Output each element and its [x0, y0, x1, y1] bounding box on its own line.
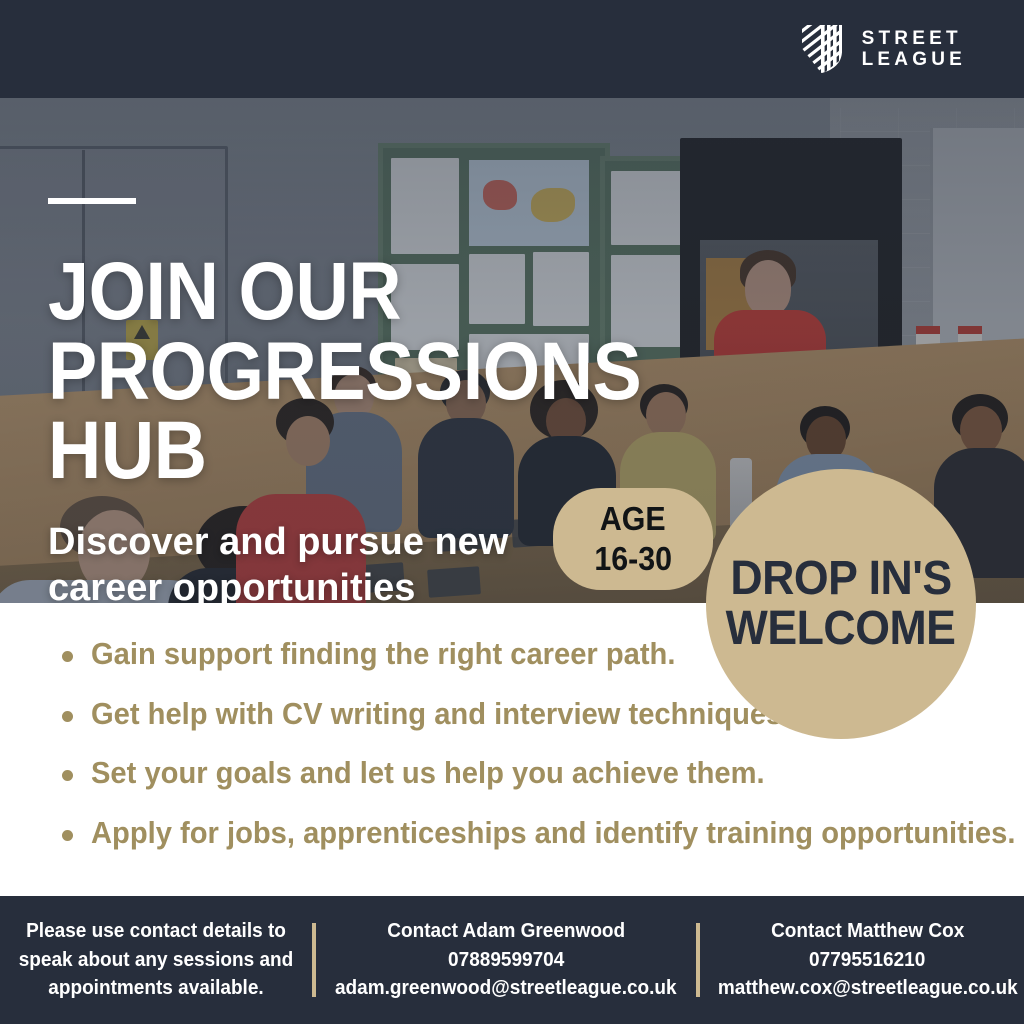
brand-name-line-1: STREET	[862, 28, 966, 49]
age-badge-line-2: 16-30	[594, 539, 672, 579]
contact-matthew-cox: Contact Matthew Cox 07795516210 matthew.…	[700, 917, 1024, 1002]
contact-email[interactable]: matthew.cox@streetleague.co.uk	[717, 974, 1017, 1002]
street-league-shield-icon	[800, 23, 844, 75]
headline-line-1: JOIN OUR	[48, 246, 401, 337]
footer-contact-bar: Please use contact details to speak abou…	[0, 896, 1024, 1024]
bullet-dot-icon	[62, 830, 73, 841]
brand-logo[interactable]: STREET LEAGUE	[800, 23, 966, 75]
contact-phone[interactable]: 07889599704	[448, 946, 564, 974]
age-badge-line-1: AGE	[600, 499, 666, 539]
footer-note: Please use contact details to speak abou…	[0, 917, 312, 1002]
drop-in-badge-line-1: DROP IN'S	[730, 554, 951, 604]
list-item: Apply for jobs, apprenticeships and iden…	[62, 815, 1002, 851]
drop-in-badge-line-2: WELCOME	[726, 604, 956, 654]
subheadline: Discover and pursue new career opportuni…	[48, 519, 568, 603]
list-item: Set your goals and let us help you achie…	[62, 755, 1002, 791]
header-bar: STREET LEAGUE	[0, 0, 1024, 98]
list-item-label: Apply for jobs, apprenticeships and iden…	[91, 815, 1015, 851]
poster: JOIN OUR PROGRESSIONS HUB Discover and p…	[0, 0, 1024, 1024]
list-item-label: Get help with CV writing and interview t…	[91, 696, 790, 732]
brand-wordmark: STREET LEAGUE	[862, 28, 966, 71]
bullet-dot-icon	[62, 651, 73, 662]
accent-dash	[48, 198, 136, 204]
contact-name: Contact Matthew Cox	[771, 917, 964, 945]
subheadline-line-1: Discover and pursue new	[48, 521, 508, 563]
contact-name: Contact Adam Greenwood	[387, 917, 625, 945]
age-badge: AGE 16-30	[553, 488, 713, 590]
subheadline-line-2: career opportunities	[48, 567, 415, 603]
contact-phone[interactable]: 07795516210	[809, 946, 925, 974]
page-title: JOIN OUR PROGRESSIONS HUB	[48, 252, 678, 491]
footer-note-text: Please use contact details to speak abou…	[17, 917, 294, 1002]
brand-name-line-2: LEAGUE	[862, 49, 966, 70]
list-item-label: Set your goals and let us help you achie…	[91, 755, 765, 791]
headline-line-2: PROGRESSIONS HUB	[48, 326, 641, 497]
list-item-label: Gain support finding the right career pa…	[91, 636, 675, 672]
contact-adam-greenwood: Contact Adam Greenwood 07889599704 adam.…	[316, 917, 696, 1002]
bullet-dot-icon	[62, 770, 73, 781]
bullet-dot-icon	[62, 711, 73, 722]
drop-in-badge: DROP IN'S WELCOME	[706, 469, 976, 739]
contact-email[interactable]: adam.greenwood@streetleague.co.uk	[335, 974, 677, 1002]
